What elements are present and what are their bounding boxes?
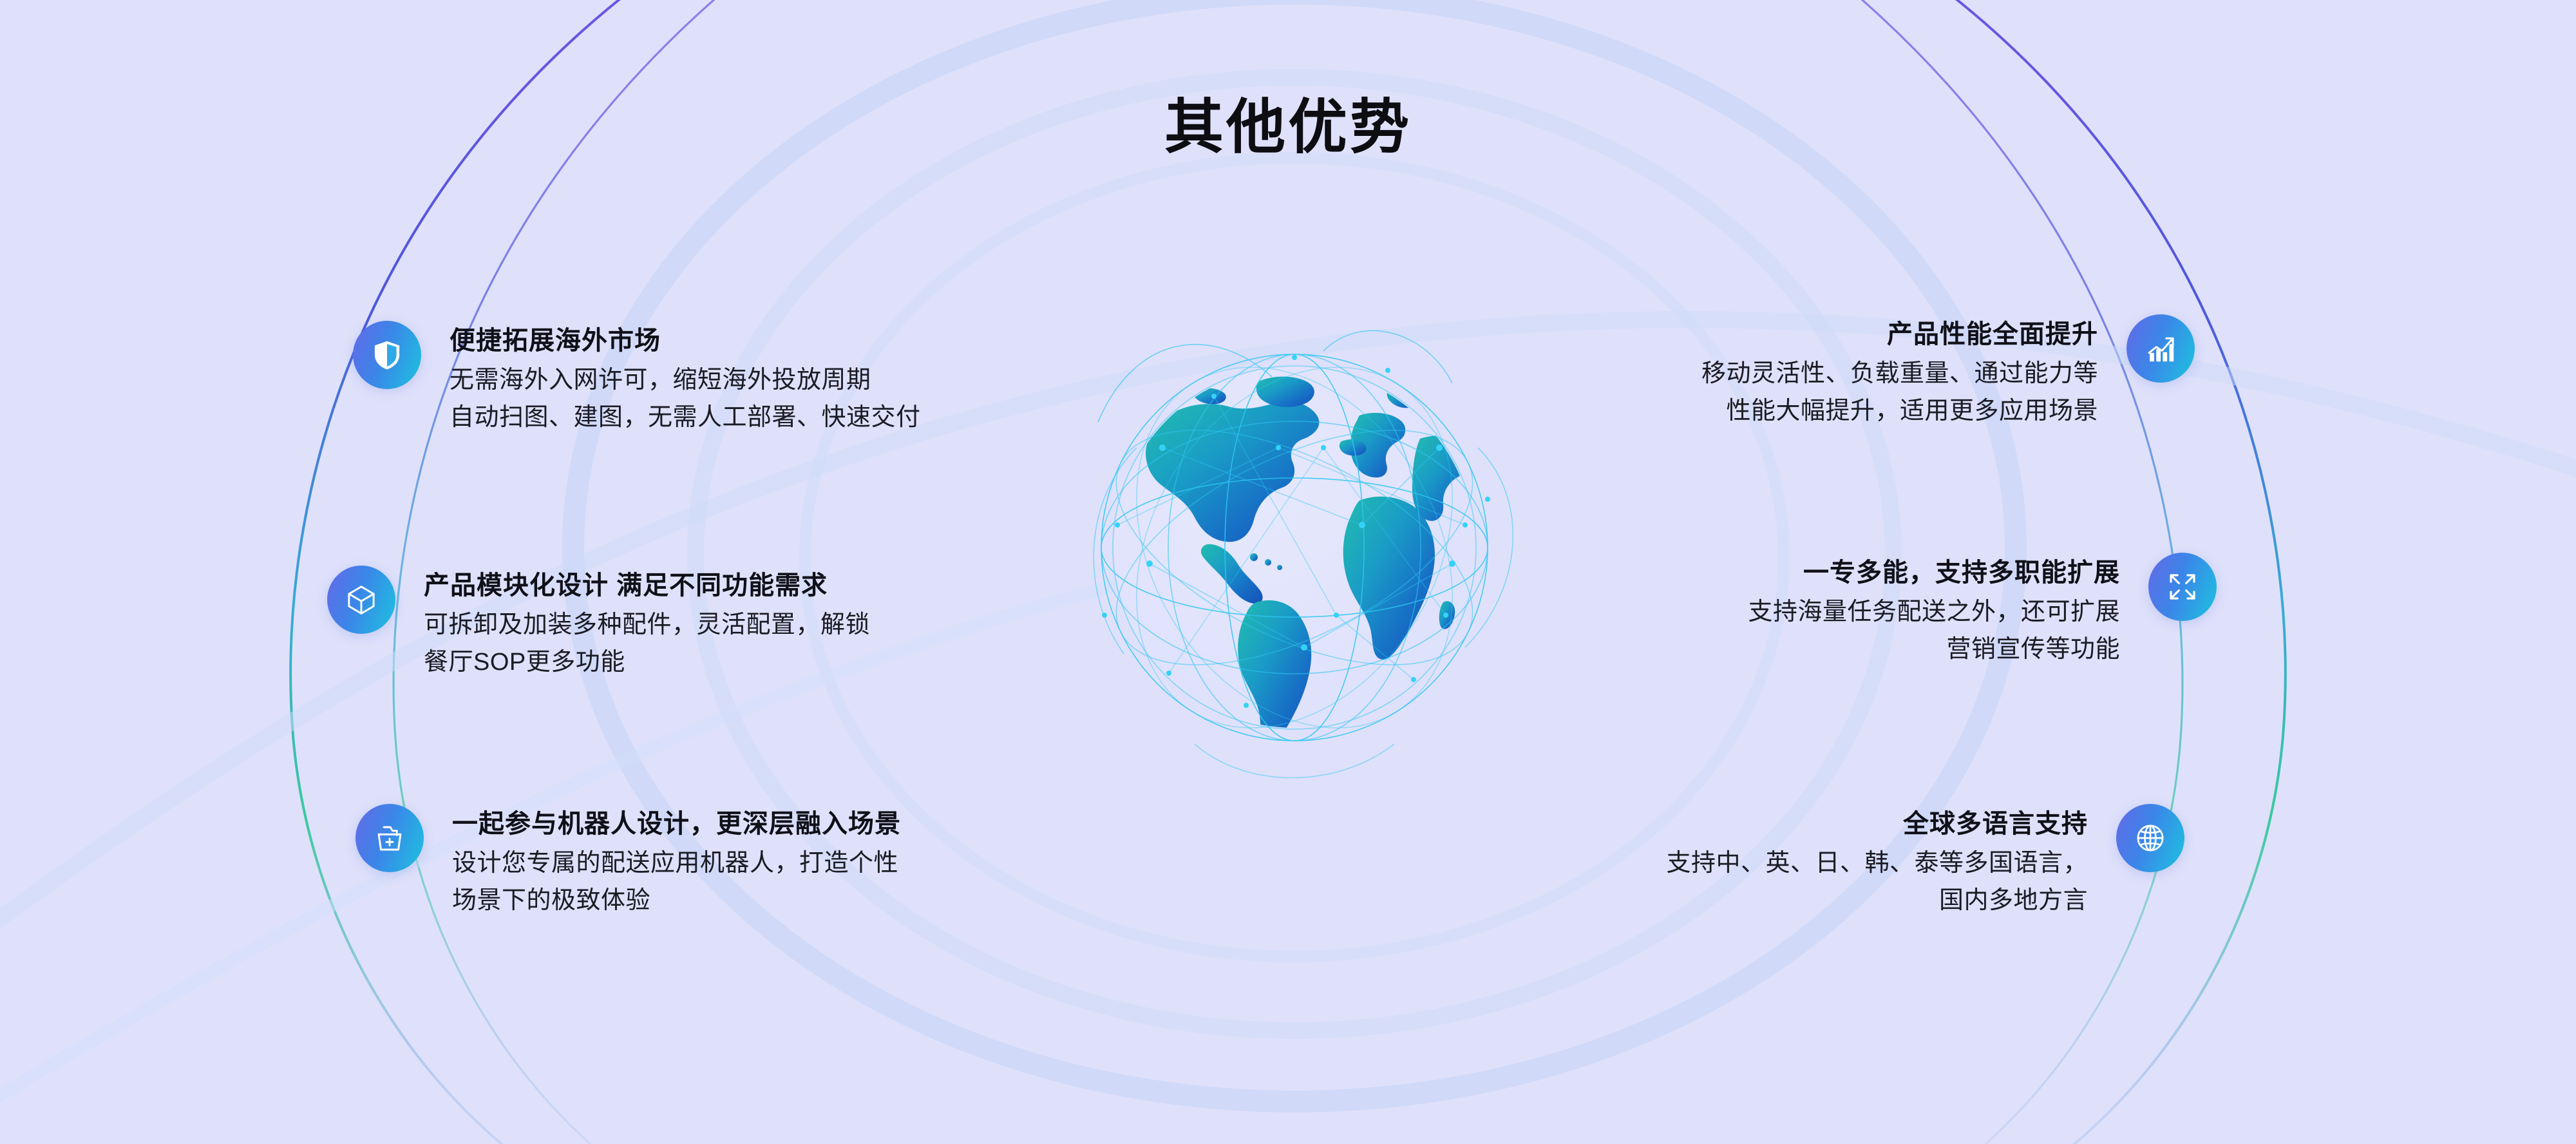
feature-badge [2148, 553, 2217, 621]
feature-line: 国内多地方言 [1666, 882, 2088, 920]
feature-text: 一起参与机器人设计，更深层融入场景 设计您专属的配送应用机器人，打造个性 场景下… [452, 804, 901, 920]
feature-badge [355, 804, 424, 872]
cube-icon [344, 582, 379, 617]
feature-line: 性能大幅提升，适用更多应用场景 [1701, 393, 2098, 430]
feature-title: 一起参与机器人设计，更深层融入场景 [452, 806, 901, 841]
feature-title: 全球多语言支持 [1666, 806, 2088, 841]
feature-title: 产品性能全面提升 [1701, 317, 2098, 352]
feature-item-co-design[interactable]: 一起参与机器人设计，更深层融入场景 设计您专属的配送应用机器人，打造个性 场景下… [355, 804, 901, 920]
expand-arrows-icon [2165, 569, 2200, 604]
feature-text: 便捷拓展海外市场 无需海外入网许可，缩短海外投放周期 自动扫图、建图，无需人工部… [450, 321, 921, 437]
feature-line: 场景下的极致体验 [452, 882, 901, 920]
globe-illustration [1001, 254, 1587, 841]
feature-title: 便捷拓展海外市场 [450, 323, 921, 358]
feature-line: 餐厅SOP更多功能 [424, 644, 870, 682]
feature-text: 全球多语言支持 支持中、英、日、韩、泰等多国语言， 国内多地方言 [1666, 804, 2088, 920]
folder-plus-icon [372, 821, 407, 855]
feature-badge [327, 566, 395, 634]
feature-text: 产品性能全面提升 移动灵活性、负载重量、通过能力等 性能大幅提升，适用更多应用场… [1701, 314, 2098, 430]
feature-line: 设计您专属的配送应用机器人，打造个性 [452, 845, 901, 882]
feature-item-multirole[interactable]: 一专多能，支持多职能扩展 支持海量任务配送之外，还可扩展 营销宣传等功能 [1748, 553, 2217, 669]
page-title: 其他优势 [0, 95, 2576, 160]
feature-line: 营销宣传等功能 [1748, 631, 2120, 669]
feature-line: 自动扫图、建图，无需人工部署、快速交付 [450, 399, 921, 437]
feature-text: 产品模块化设计 满足不同功能需求 可拆卸及加装多种配件，灵活配置，解锁 餐厅SO… [424, 566, 870, 682]
feature-badge [353, 321, 421, 389]
globe-icon [2133, 821, 2168, 855]
feature-text: 一专多能，支持多职能扩展 支持海量任务配送之外，还可扩展 营销宣传等功能 [1748, 553, 2120, 669]
feature-line: 移动灵活性、负载重量、通过能力等 [1701, 356, 2098, 393]
feature-item-multilanguage[interactable]: 全球多语言支持 支持中、英、日、韩、泰等多国语言， 国内多地方言 [1666, 804, 2184, 920]
feature-title: 一专多能，支持多职能扩展 [1748, 555, 2120, 590]
feature-badge [2116, 804, 2184, 872]
shield-icon [370, 338, 404, 372]
feature-item-modular-design[interactable]: 产品模块化设计 满足不同功能需求 可拆卸及加装多种配件，灵活配置，解锁 餐厅SO… [327, 566, 870, 682]
feature-title: 产品模块化设计 满足不同功能需求 [424, 568, 870, 603]
feature-badge [2126, 314, 2195, 383]
feature-item-overseas-market[interactable]: 便捷拓展海外市场 无需海外入网许可，缩短海外投放周期 自动扫图、建图，无需人工部… [353, 321, 921, 437]
feature-line: 可拆卸及加装多种配件，灵活配置，解锁 [424, 607, 870, 644]
feature-line: 支持海量任务配送之外，还可扩展 [1748, 594, 2120, 631]
feature-line: 无需海外入网许可，缩短海外投放周期 [450, 362, 921, 399]
chart-growth-icon [2143, 331, 2178, 366]
advantages-section: 其他优势 [0, 0, 2576, 1144]
feature-line: 支持中、英、日、韩、泰等多国语言， [1666, 845, 2088, 882]
feature-item-performance[interactable]: 产品性能全面提升 移动灵活性、负载重量、通过能力等 性能大幅提升，适用更多应用场… [1701, 314, 2195, 430]
